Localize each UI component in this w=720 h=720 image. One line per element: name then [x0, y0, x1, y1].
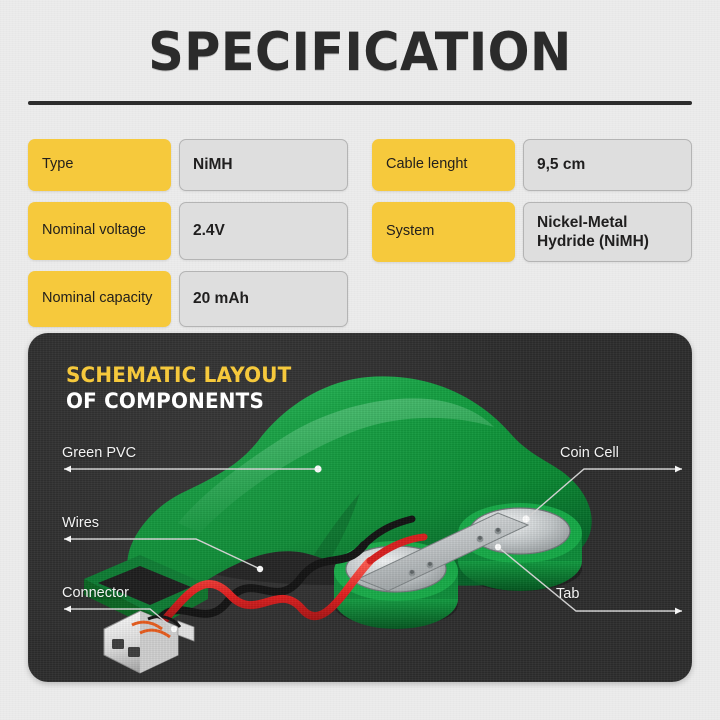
page-title: SPECIFICATION [25, 26, 695, 79]
spec-key-cable-lenght: Cable lenght [372, 139, 515, 191]
page-header: SPECIFICATION [0, 26, 720, 79]
spec-value-cable-lenght: 9,5 cm [523, 139, 692, 191]
spec-row: System Nickel-Metal Hydride (NiMH) [372, 202, 692, 262]
spec-value-system: Nickel-Metal Hydride (NiMH) [523, 202, 692, 262]
connector [104, 611, 194, 673]
schematic-panel: SCHEMATIC LAYOUT OF COMPONENTS Green PVC… [28, 333, 692, 682]
callout-label-wires: Wires [62, 515, 99, 531]
spec-key-type: Type [28, 139, 171, 191]
spec-key-system: System [372, 202, 515, 262]
spec-value-nominal-voltage: 2.4V [179, 202, 348, 260]
callout-label-connector: Connector [62, 585, 129, 601]
spec-row: Cable lenght 9,5 cm [372, 139, 692, 191]
spec-key-nominal-capacity: Nominal capacity [28, 271, 171, 327]
spec-column-left: Type NiMH Nominal voltage 2.4V Nominal c… [28, 139, 348, 327]
callout-label-green-pvc: Green PVC [62, 445, 136, 461]
callout-label-tab: Tab [556, 586, 579, 602]
schematic-title-line-2: OF COMPONENTS [66, 389, 291, 415]
spec-row: Nominal capacity 20 mAh [28, 271, 348, 327]
specification-table: Type NiMH Nominal voltage 2.4V Nominal c… [28, 139, 692, 327]
spec-column-right: Cable lenght 9,5 cm System Nickel-Metal … [372, 139, 692, 327]
spec-row: Type NiMH [28, 139, 348, 191]
spec-value-nominal-capacity: 20 mAh [179, 271, 348, 327]
schematic-title-line-1: SCHEMATIC LAYOUT [66, 363, 291, 389]
callout-label-coin-cell: Coin Cell [560, 445, 619, 461]
spec-key-nominal-voltage: Nominal voltage [28, 202, 171, 260]
header-divider [28, 101, 692, 105]
spec-value-type: NiMH [179, 139, 348, 191]
schematic-panel-title: SCHEMATIC LAYOUT OF COMPONENTS [66, 363, 291, 414]
spec-row: Nominal voltage 2.4V [28, 202, 348, 260]
